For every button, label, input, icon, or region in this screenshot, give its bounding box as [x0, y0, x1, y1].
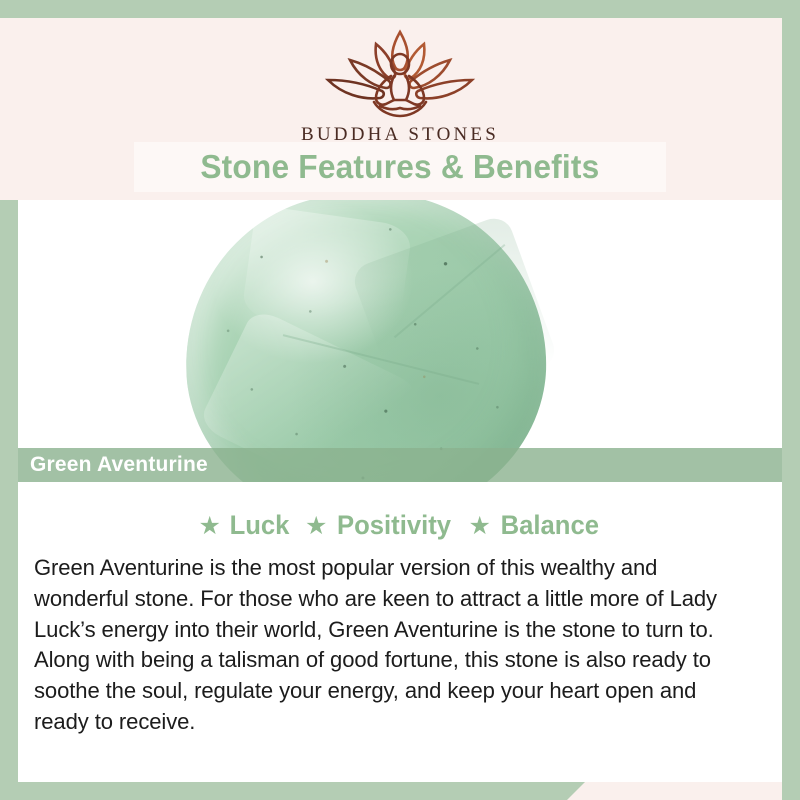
poster-root: BUDDHA STONES Stone Features & Benefits …	[0, 0, 800, 800]
stone-image-panel	[18, 200, 782, 482]
decor-band-left	[0, 200, 18, 788]
star-icon: ★	[199, 514, 221, 539]
feature-item-positivity: ★ Positivity	[305, 510, 454, 541]
lotus-meditation-icon	[18, 24, 782, 122]
brand-logo: BUDDHA STONES	[18, 24, 782, 146]
description-panel: ★ Luck ★ Positivity ★ Balance Green Aven…	[18, 482, 782, 782]
feature-item-luck: ★ Luck	[199, 510, 291, 541]
stone-caption-label: Green Aventurine	[18, 453, 208, 477]
feature-label-luck: Luck	[230, 510, 290, 541]
stone-description-text: Green Aventurine is the most popular ver…	[34, 553, 747, 738]
feature-label-positivity: Positivity	[337, 510, 451, 541]
feature-item-balance: ★ Balance	[468, 510, 601, 541]
stone-photo	[18, 200, 782, 482]
star-icon: ★	[305, 514, 327, 539]
star-icon: ★	[468, 514, 490, 539]
feature-label-balance: Balance	[500, 510, 598, 541]
decor-band-top	[0, 0, 800, 18]
title-banner: Stone Features & Benefits	[134, 142, 666, 192]
decor-band-bottom	[0, 782, 585, 800]
green-aventurine-stone	[180, 200, 551, 482]
features-row: ★ Luck ★ Positivity ★ Balance	[18, 510, 782, 541]
decor-band-right	[782, 0, 800, 800]
page-title: Stone Features & Benefits	[200, 148, 599, 186]
stone-caption-bar: Green Aventurine	[18, 448, 782, 482]
stone-speckles	[180, 200, 551, 482]
